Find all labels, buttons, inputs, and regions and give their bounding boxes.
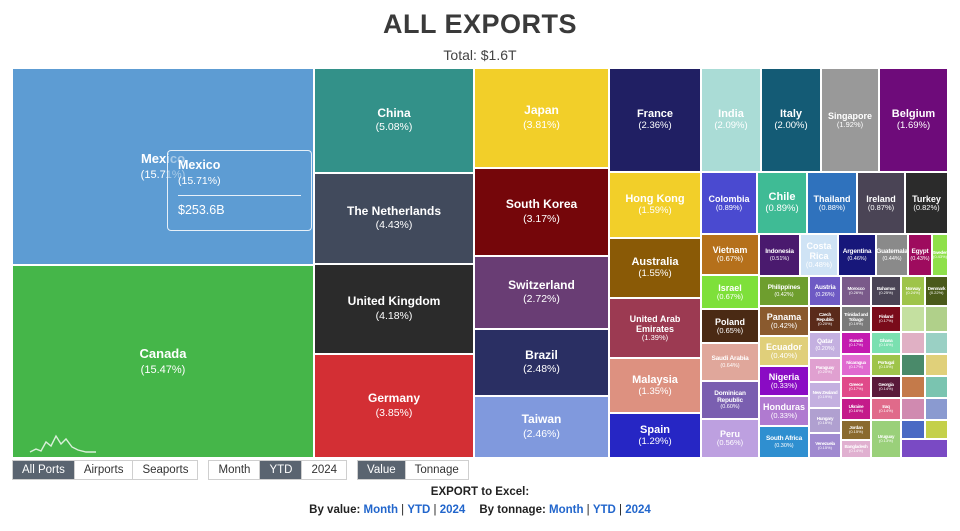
tile-percent: (0.16%) (818, 421, 832, 425)
link-separator: | (583, 504, 592, 516)
treemap-tile-new-zealand[interactable]: New Zealand(0.19%) (809, 382, 841, 408)
tile-name: Malaysia (632, 374, 678, 386)
treemap-tile-venezuela[interactable]: Venezuela(0.15%) (809, 433, 841, 458)
tile-percent: (0.25%) (879, 291, 893, 295)
tile-percent: (0.64%) (720, 363, 739, 369)
tile-name: India (718, 108, 744, 120)
tile-name: Argentina (843, 248, 872, 255)
tile-percent: (0.17%) (849, 365, 863, 369)
tile-name: Chile (769, 191, 796, 203)
tooltip-title: Mexico (178, 158, 301, 172)
tile-name: Indonesia (765, 248, 794, 255)
tile-name: Switzerland (508, 279, 575, 292)
treemap-tile-canada[interactable]: Canada(15.47%) (12, 265, 314, 458)
treemap-tile-croatia[interactable]: Croatia(0.08%) (901, 420, 925, 439)
tile-percent: (2.46%) (523, 429, 560, 441)
treemap-tile-nicaragua[interactable]: Nicaragua(0.17%) (841, 354, 871, 376)
treemap-tile-qatar[interactable]: Qatar(0.20%) (809, 332, 841, 358)
tile-percent: (4.18%) (376, 311, 413, 323)
treemap-tile-pakistan[interactable]: Pakistan(0.12%) (901, 332, 925, 354)
page-title: ALL EXPORTS (0, 8, 960, 40)
treemap-tile-czech-republic[interactable]: Czech Republic(0.20%) (809, 306, 841, 332)
tile-name: Saudi Arabia (711, 355, 748, 362)
tile-percent: (1.69%) (897, 121, 930, 132)
link-separator: | (430, 504, 439, 516)
treemap-tile-japan[interactable]: Japan(3.81%) (474, 68, 609, 168)
by-tonnage-link-2024[interactable]: 2024 (625, 504, 651, 516)
tile-percent: (0.22%) (929, 291, 943, 295)
tile-name: Taiwan (522, 413, 562, 426)
tile-percent: (0.17%) (849, 387, 863, 391)
tile-percent: (0.14%) (879, 409, 893, 413)
treemap-tile-thailand[interactable]: Thailand(0.88%) (807, 172, 857, 234)
button-month[interactable]: Month (209, 461, 260, 479)
treemap-tile-hungary[interactable]: Hungary(0.16%) (809, 408, 841, 433)
tile-percent: (0.20%) (818, 370, 832, 374)
treemap-tile-belgium[interactable]: Belgium(1.69%) (879, 68, 948, 172)
tile-percent: (0.65%) (717, 327, 743, 335)
treemap-tile-united-arab-emirates[interactable]: United Arab Emirates(1.39%) (609, 298, 701, 358)
by-tonnage-link-month[interactable]: Month (549, 504, 583, 516)
treemap-tile-taiwan[interactable]: Taiwan(2.46%) (474, 396, 609, 458)
export-bar: EXPORT to Excel: By value: Month | YTD |… (0, 486, 960, 516)
treemap-tile-morocco[interactable]: Morocco(0.26%) (841, 276, 871, 306)
treemap-tile-peru[interactable]: Peru(0.56%) (701, 419, 759, 458)
tile-percent: (15.47%) (141, 364, 186, 376)
tooltip-percent: (15.71%) (178, 175, 301, 187)
tile-name: Egypt (911, 248, 928, 255)
tile-name: Italy (780, 108, 802, 120)
tile-name: Canada (140, 347, 187, 362)
treemap-chart[interactable]: Other(0.07%)Tunisia(0.07%)Croatia(0.08%)… (12, 68, 948, 458)
tile-name: Hong Kong (625, 193, 684, 205)
tooltip-value: $253.6B (178, 203, 301, 217)
tile-name: Qatar (817, 338, 833, 345)
treemap-tile-united-kingdom[interactable]: United Kingdom(4.18%) (314, 264, 474, 354)
tile-percent: (0.15%) (879, 365, 893, 369)
tile-percent: (5.08%) (376, 122, 413, 134)
tile-percent: (2.48%) (523, 364, 560, 376)
tile-percent: (0.13%) (879, 439, 893, 443)
treemap-tile-india[interactable]: India(2.09%) (701, 68, 761, 172)
button-value[interactable]: Value (358, 461, 406, 479)
tile-percent: (0.15%) (818, 446, 832, 450)
by-value-link-ytd[interactable]: YTD (407, 504, 430, 516)
treemap-tile-germany[interactable]: Germany(3.85%) (314, 354, 474, 458)
treemap-tile-greece[interactable]: Greece(0.17%) (841, 376, 871, 398)
by-value-label: By value: (309, 504, 363, 516)
tile-name: Spain (640, 424, 670, 436)
treemap-tile-dominican-republic[interactable]: Dominican Republic(0.60%) (701, 381, 759, 419)
treemap-tile-austria[interactable]: Austria(0.26%) (809, 276, 841, 306)
button-ytd[interactable]: YTD (260, 461, 302, 479)
treemap-tile-iraq[interactable]: Iraq(0.14%) (871, 398, 901, 420)
tile-name: South Africa (766, 435, 802, 442)
by-tonnage-label: By tonnage: (479, 504, 549, 516)
treemap-tile-france[interactable]: France(2.36%) (609, 68, 701, 172)
tile-percent: (0.26%) (815, 292, 834, 298)
tile-name: Dominican Republic (703, 390, 757, 405)
tile-percent: (2.00%) (774, 121, 807, 132)
treemap-tile-oman[interactable]: Oman(0.10%) (925, 354, 948, 376)
tooltip-divider (178, 195, 301, 196)
tile-percent: (0.26%) (849, 291, 863, 295)
tile-percent: (3.85%) (376, 408, 413, 420)
tile-percent: (0.20%) (815, 346, 834, 352)
treemap-tile-south-africa[interactable]: South Africa(0.30%) (759, 426, 809, 458)
treemap-tile-nigeria[interactable]: Nigeria(0.33%) (759, 366, 809, 396)
tile-name: Austria (815, 284, 836, 291)
treemap-tile-ecuador[interactable]: Ecuador(0.40%) (759, 336, 809, 366)
treemap-tile-jordan[interactable]: Jordan(0.15%) (841, 420, 871, 440)
tile-percent: (0.46%) (847, 256, 866, 262)
link-separator: | (398, 504, 407, 516)
treemap-tile-hong-kong[interactable]: Hong Kong(1.59%) (609, 172, 701, 238)
treemap-tile-poland[interactable]: Poland(0.65%) (701, 309, 759, 343)
treemap-tile-angola[interactable]: Angola(0.11%) (901, 354, 925, 376)
tile-percent: (0.40%) (771, 352, 797, 360)
tile-percent: (0.14%) (879, 387, 893, 391)
treemap-tile-bangladesh[interactable]: Bangladesh(0.14%) (841, 440, 871, 458)
tile-percent: (3.81%) (523, 120, 560, 132)
treemap-tile-colombia[interactable]: Colombia(0.89%) (701, 172, 757, 234)
tile-percent: (0.17%) (879, 319, 893, 323)
treemap-tile-sweden[interactable]: Sweden(0.43%) (932, 234, 948, 276)
tile-name: Japan (524, 104, 559, 117)
tile-percent: (0.16%) (849, 409, 863, 413)
tile-percent: (1.59%) (638, 206, 671, 217)
period-button-group[interactable]: MonthYTD2024 (208, 460, 347, 480)
tile-percent: (0.14%) (849, 449, 863, 453)
button-2024[interactable]: 2024 (302, 461, 346, 479)
measure-button-group[interactable]: ValueTonnage (357, 460, 469, 480)
tile-percent: (1.55%) (638, 269, 671, 280)
tile-percent: (2.72%) (523, 294, 560, 306)
treemap-tile-lebanon[interactable]: Lebanon(0.09%) (901, 398, 925, 420)
treemap-tile-china[interactable]: China(5.08%) (314, 68, 474, 173)
tile-percent: (1.92%) (837, 121, 863, 129)
button-all-ports[interactable]: All Ports (13, 461, 75, 479)
tile-percent: (0.89%) (765, 204, 798, 215)
tile-percent: (0.42%) (771, 322, 797, 330)
button-tonnage[interactable]: Tonnage (406, 461, 468, 479)
treemap-tile-slovenia[interactable]: Slovenia(0.08%) (925, 398, 948, 420)
treemap-tile-ukraine[interactable]: Ukraine(0.16%) (841, 398, 871, 420)
tile-name: Philippines (768, 284, 800, 291)
tile-percent: (0.16%) (879, 343, 893, 347)
treemap-tile-portugal[interactable]: Portugal(0.15%) (871, 354, 901, 376)
tile-percent: (4.43%) (376, 220, 413, 232)
treemap-tile-australia[interactable]: Australia(1.55%) (609, 238, 701, 298)
tile-percent: (1.29%) (638, 437, 671, 448)
tile-name: Belgium (892, 108, 935, 120)
treemap-tile-ghana[interactable]: Ghana(0.16%) (871, 332, 901, 354)
export-title: EXPORT to Excel: (0, 486, 960, 498)
treemap-tile-guatemala[interactable]: Guatemala(0.44%) (876, 234, 908, 276)
tile-percent: (0.42%) (774, 292, 793, 298)
treemap-tile-finland[interactable]: Finland(0.17%) (871, 306, 901, 332)
treemap-tile-honduras[interactable]: Honduras(0.33%) (759, 396, 809, 426)
mexico-tooltip: Mexico (15.71%) $253.6B (167, 150, 312, 231)
button-seaports[interactable]: Seaports (133, 461, 197, 479)
tile-percent: (0.33%) (771, 412, 797, 420)
tile-percent: (0.51%) (770, 256, 789, 262)
treemap-tile-israel[interactable]: Israel(0.67%) (701, 275, 759, 309)
treemap-tile-georgia[interactable]: Georgia(0.14%) (871, 376, 901, 398)
button-airports[interactable]: Airports (75, 461, 134, 479)
treemap-tile-south-korea[interactable]: South Korea(3.17%) (474, 168, 609, 256)
tile-percent: (0.30%) (774, 443, 793, 449)
tile-percent: (0.67%) (717, 255, 743, 263)
treemap-tile-other[interactable]: Other(0.07%) (901, 439, 948, 458)
tile-percent: (0.67%) (717, 293, 743, 301)
tile-name: South Korea (506, 198, 577, 211)
tile-percent: (0.43%) (933, 255, 947, 259)
tile-percent: (1.35%) (638, 387, 671, 398)
export-links-row[interactable]: By value: Month | YTD | 2024By tonnage: … (0, 504, 960, 516)
tile-name: United Kingdom (348, 295, 441, 308)
treemap-tile-trinidad-and-tobago[interactable]: Trinidad and Tobago(0.19%) (841, 306, 871, 332)
tile-name: China (377, 107, 410, 120)
by-value-link-month[interactable]: Month (363, 504, 397, 516)
by-value-link-2024[interactable]: 2024 (440, 504, 466, 516)
tile-percent: (2.36%) (638, 121, 671, 132)
treemap-tile-romania[interactable]: Romania(0.13%) (901, 306, 925, 332)
treemap-tile-kuwait[interactable]: Kuwait(0.17%) (841, 332, 871, 354)
tile-percent: (0.82%) (913, 204, 939, 212)
tile-percent: (0.20%) (818, 322, 832, 326)
tile-percent: (2.09%) (714, 121, 747, 132)
treemap-tile-egypt[interactable]: Egypt(0.43%) (908, 234, 932, 276)
tile-name: The Netherlands (347, 205, 441, 218)
tile-percent: (0.88%) (819, 204, 845, 212)
treemap-tile-ireland[interactable]: Ireland(0.87%) (857, 172, 905, 234)
tile-percent: (3.17%) (523, 214, 560, 226)
treemap-tile-saudi-arabia[interactable]: Saudi Arabia(0.64%) (701, 343, 759, 381)
chart-controls[interactable]: All PortsAirportsSeaports MonthYTD2024 V… (12, 460, 469, 480)
treemap-tile-vietnam[interactable]: Vietnam(0.67%) (701, 234, 759, 275)
treemap-tile-paraguay[interactable]: Paraguay(0.20%) (809, 358, 841, 382)
treemap-tile-turkey[interactable]: Turkey(0.82%) (905, 172, 948, 234)
treemap-tile-costa-rica[interactable]: Costa Rica(0.48%) (800, 234, 838, 276)
treemap-tile-algeria[interactable]: Algeria(0.10%) (901, 376, 925, 398)
treemap-tile-uruguay[interactable]: Uruguay(0.13%) (871, 420, 901, 458)
treemap-tile-chile[interactable]: Chile(0.89%) (757, 172, 807, 234)
tile-percent: (0.33%) (771, 382, 797, 390)
tile-percent: (0.89%) (716, 204, 742, 212)
ports-button-group[interactable]: All PortsAirportsSeaports (12, 460, 198, 480)
treemap-tile-italy[interactable]: Italy(2.00%) (761, 68, 821, 172)
treemap-tile-panama[interactable]: Panama(0.42%) (759, 306, 809, 336)
treemap-tile-jamaica[interactable]: Jamaica(0.12%) (925, 306, 948, 332)
treemap-tile-philippines[interactable]: Philippines(0.42%) (759, 276, 809, 306)
treemap-tile-singapore[interactable]: Singapore(1.92%) (821, 68, 879, 172)
tile-name: Brazil (525, 349, 558, 362)
tile-name: Germany (368, 392, 420, 405)
sparkline-icon (28, 432, 98, 454)
tile-percent: (0.19%) (849, 322, 863, 326)
tile-name: Costa Rica (802, 241, 836, 261)
tile-percent: (0.56%) (717, 439, 743, 447)
tile-name: Guatemala (876, 248, 907, 255)
treemap-tile-switzerland[interactable]: Switzerland(2.72%) (474, 256, 609, 329)
treemap-tile-norway[interactable]: Norway(0.24%) (901, 276, 925, 306)
tile-name: Australia (631, 256, 678, 268)
treemap-tile-bulgaria[interactable]: Bulgaria(0.09%) (925, 376, 948, 398)
treemap-tile-argentina[interactable]: Argentina(0.46%) (838, 234, 876, 276)
tile-percent: (0.87%) (868, 204, 894, 212)
treemap-tile-kenya[interactable]: Kenya(0.11%) (925, 332, 948, 354)
treemap-tile-brazil[interactable]: Brazil(2.48%) (474, 329, 609, 396)
link-separator: | (616, 504, 625, 516)
tile-percent: (1.39%) (642, 334, 668, 342)
total-label: Total: $1.6T (0, 47, 960, 63)
by-tonnage-link-ytd[interactable]: YTD (593, 504, 616, 516)
tile-percent: (0.24%) (906, 291, 920, 295)
tile-percent: (0.17%) (849, 343, 863, 347)
treemap-tile-malaysia[interactable]: Malaysia(1.35%) (609, 358, 701, 413)
tile-percent: (0.43%) (910, 256, 929, 262)
treemap-tile-spain[interactable]: Spain(1.29%) (609, 413, 701, 458)
treemap-tile-bahamas[interactable]: Bahamas(0.25%) (871, 276, 901, 306)
tile-percent: (0.60%) (720, 404, 739, 410)
tile-name: France (637, 108, 673, 120)
treemap-tile-tunisia[interactable]: Tunisia(0.07%) (925, 420, 948, 439)
treemap-tile-the-netherlands[interactable]: The Netherlands(4.43%) (314, 173, 474, 264)
tile-percent: (0.44%) (882, 256, 901, 262)
tile-percent: (0.19%) (818, 395, 832, 399)
tile-name: United Arab Emirates (611, 314, 699, 334)
tile-percent: (0.48%) (806, 261, 832, 269)
chart-header: ALL EXPORTS Total: $1.6T (0, 0, 960, 63)
treemap-tile-denmark[interactable]: Denmark(0.22%) (925, 276, 948, 306)
tile-percent: (0.15%) (849, 430, 863, 434)
treemap-tile-indonesia[interactable]: Indonesia(0.51%) (759, 234, 800, 276)
